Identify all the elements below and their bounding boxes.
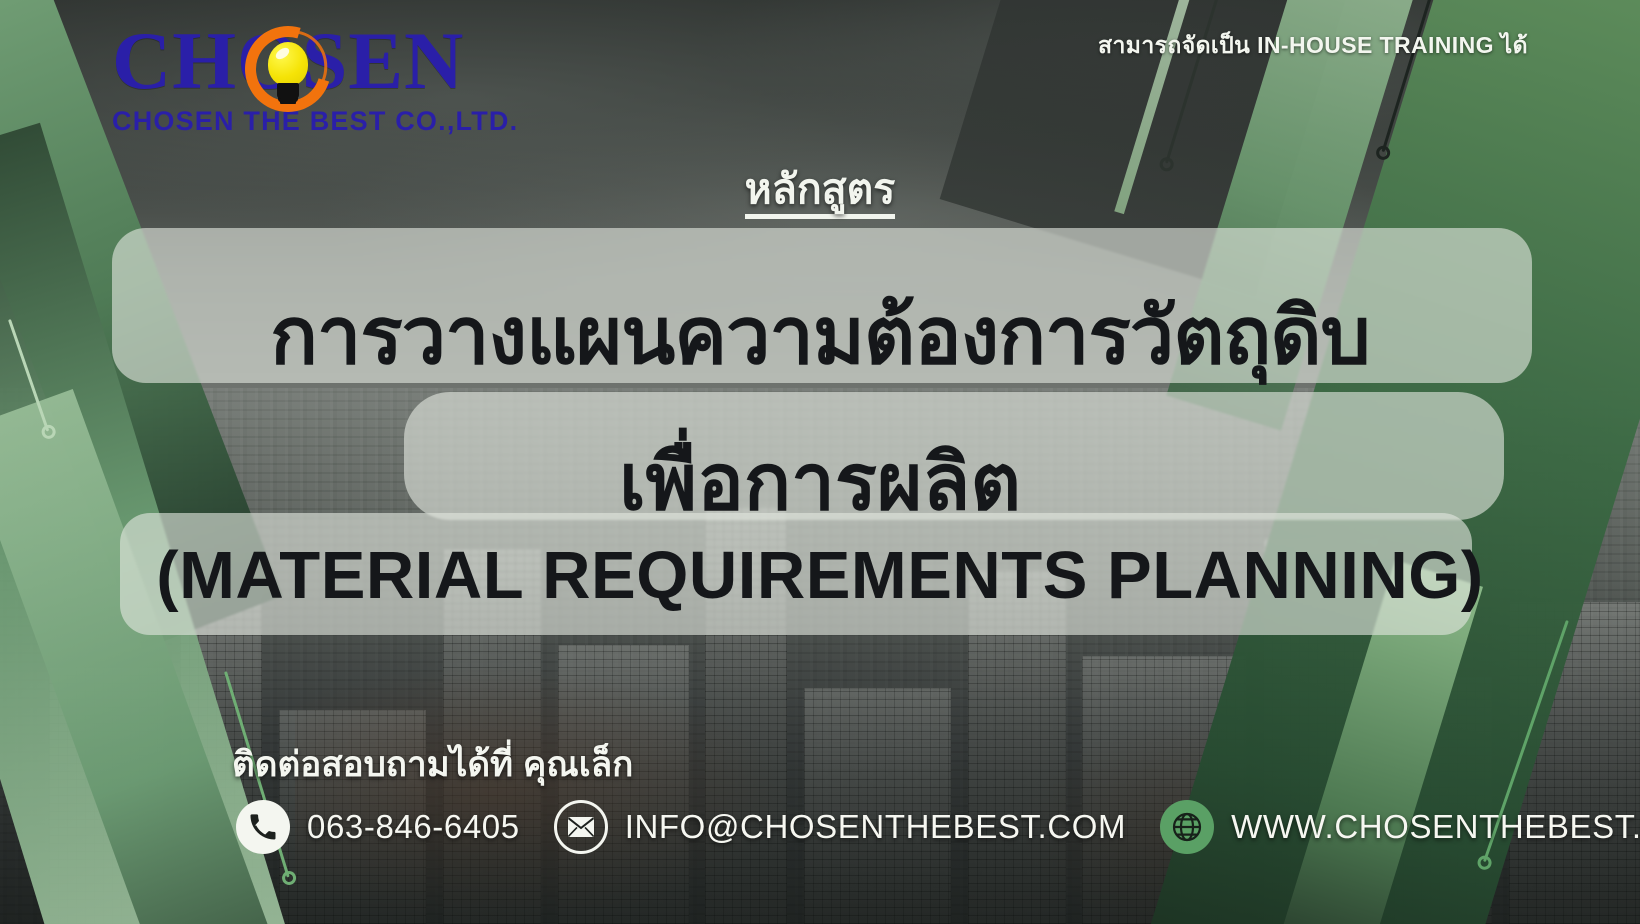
course-title-line-1: การวางแผนความต้องการวัตถุดิบ (0, 272, 1640, 398)
course-title-line-3: (MATERIAL REQUIREMENTS PLANNING) (0, 537, 1640, 614)
course-poster: CHOSEN CHOSEN THE BEST CO.,LTD. สามารถจั… (0, 0, 1640, 924)
contact-row: 063-846-6405 INFO@CHOSENTHEBEST.COM (236, 800, 1640, 854)
contact-website[interactable]: WWW.CHOSENTHEBEST.COM (1160, 800, 1640, 854)
course-title-line-2: เพื่อการผลิต (0, 420, 1640, 544)
contact-website-value: WWW.CHOSENTHEBEST.COM (1231, 808, 1640, 846)
contact-phone-value: 063-846-6405 (307, 808, 520, 846)
lightbulb-icon (245, 26, 331, 112)
contact-email[interactable]: INFO@CHOSENTHEBEST.COM (554, 800, 1126, 854)
company-logo: CHOSEN CHOSEN THE BEST CO.,LTD. (112, 20, 462, 145)
contact-lead-text: ติดต่อสอบถามได้ที่ คุณเล็ก (232, 737, 633, 792)
globe-icon (1160, 800, 1214, 854)
email-icon (554, 800, 608, 854)
contact-phone[interactable]: 063-846-6405 (236, 800, 520, 854)
phone-icon (236, 800, 290, 854)
inhouse-training-note: สามารถจัดเป็น IN-HOUSE TRAINING ได้ (1098, 28, 1528, 64)
contact-email-value: INFO@CHOSENTHEBEST.COM (625, 808, 1126, 846)
course-kicker-text: หลักสูตร (745, 166, 896, 219)
course-kicker: หลักสูตร (0, 157, 1640, 222)
